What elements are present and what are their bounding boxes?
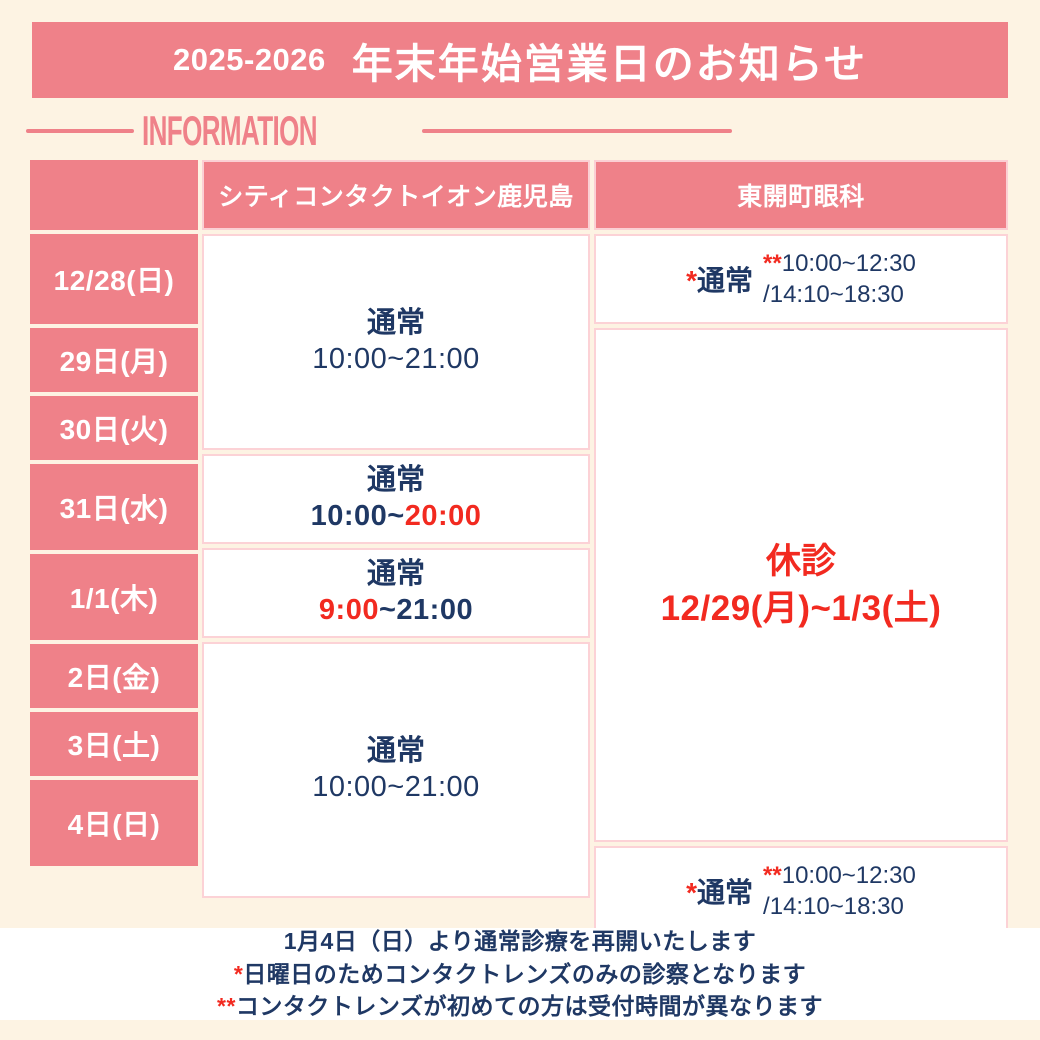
header-cell-clinic: 東開町眼科 (594, 160, 1008, 230)
hours-line-2: /14:10~18:30 (763, 281, 904, 308)
asterisk-marker: * (686, 877, 697, 908)
clinic-open-cell: *通常 **10:00~12:30 /14:10~18:30 (594, 846, 1008, 936)
hours-text: 10:00~21:00 (312, 769, 480, 807)
closed-label: 休診 (766, 538, 836, 585)
status-label: *通常 (686, 871, 753, 911)
date-cell: 31日(水) (30, 464, 198, 550)
footer-note-1-text: 日曜日のためコンタクトレンズのみの診察となります (243, 961, 806, 987)
status-label: *通常 (686, 259, 753, 299)
title-band: 2025-2026 年末年始営業日のお知らせ (32, 22, 1008, 98)
footer-line-note-2: **コンタクトレンズが初めての方は受付時間が異なります (217, 991, 823, 1021)
clinic-closed-cell: 休診 12/29(月)~1/3(土) (594, 328, 1008, 842)
hours-text: 9:00~21:00 (319, 592, 473, 630)
footer-notes: 1月4日（日）より通常診療を再開いたします *日曜日のためコンタクトレンズのみの… (0, 928, 1040, 1020)
status-label: 通常 (367, 556, 425, 592)
double-asterisk-marker: ** (763, 250, 782, 277)
divider-line-right (422, 129, 732, 133)
hours-line-2: /14:10~18:30 (763, 893, 904, 920)
hours-line-1: 10:00~12:30 (782, 250, 916, 277)
contact-hours-cell: 通常 9:00~21:00 (202, 548, 590, 638)
footer-note-2-text: コンタクトレンズが初めての方は受付時間が異なります (236, 993, 823, 1019)
clinic-open-cell: *通常 **10:00~12:30 /14:10~18:30 (594, 234, 1008, 324)
clinic-hours-text: **10:00~12:30 /14:10~18:30 (763, 860, 916, 922)
information-divider: INFORMATION (26, 108, 732, 154)
hours-text: 10:00~20:00 (311, 498, 482, 536)
date-cell: 1/1(木) (30, 554, 198, 640)
asterisk-marker: * (686, 265, 697, 296)
hours-part-highlight: 9:00 (319, 594, 379, 626)
header-cell-blank (30, 160, 198, 230)
asterisk-marker: * (234, 961, 243, 987)
date-cell: 12/28(日) (30, 234, 198, 324)
hours-part: 10:00~21:00 (312, 771, 480, 803)
date-cell: 29日(月) (30, 328, 198, 392)
double-asterisk-marker: ** (763, 862, 782, 889)
clinic-column: 東開町眼科 *通常 **10:00~12:30 /14:10~18:30 休診 … (594, 160, 1008, 936)
date-cell: 30日(火) (30, 396, 198, 460)
hours-part-highlight: 20:00 (405, 500, 482, 532)
poster-root: 2025-2026 年末年始営業日のお知らせ INFORMATION 12/28… (0, 0, 1040, 1040)
hours-text: 10:00~21:00 (312, 341, 480, 379)
hours-part: 10:00~21:00 (312, 343, 480, 375)
status-label: 通常 (367, 462, 425, 498)
contact-hours-cell: 通常 10:00~20:00 (202, 454, 590, 544)
date-cell: 4日(日) (30, 780, 198, 866)
schedule-table: 12/28(日) 29日(月) 30日(火) 31日(水) 1/1(木) 2日(… (30, 160, 1008, 936)
contact-hours-cell: 通常 10:00~21:00 (202, 642, 590, 898)
status-label: 通常 (367, 733, 425, 769)
double-asterisk-marker: ** (217, 993, 236, 1019)
status-label: 通常 (367, 305, 425, 341)
header-cell-contact: シティコンタクトイオン鹿児島 (202, 160, 590, 230)
hours-part: 10:00~ (311, 500, 405, 532)
clinic-hours-text: **10:00~12:30 /14:10~18:30 (763, 248, 916, 310)
divider-line-left (26, 129, 134, 133)
page-title: 年末年始営業日のお知らせ (352, 30, 867, 90)
contact-hours-cell: 通常 10:00~21:00 (202, 234, 590, 450)
footer-line-note-1: *日曜日のためコンタクトレンズのみの診察となります (234, 959, 806, 989)
footer-line-reopen: 1月4日（日）より通常診療を再開いたします (284, 926, 757, 956)
section-label: INFORMATION (142, 110, 421, 152)
date-column: 12/28(日) 29日(月) 30日(火) 31日(水) 1/1(木) 2日(… (30, 160, 198, 936)
contact-column: シティコンタクトイオン鹿児島 通常 10:00~21:00 通常 10:00~2… (202, 160, 590, 936)
date-cell: 3日(土) (30, 712, 198, 776)
status-text: 通常 (697, 265, 753, 296)
title-year-range: 2025-2026 (173, 42, 326, 78)
closed-date-range: 12/29(月)~1/3(土) (661, 585, 942, 632)
hours-line-1: 10:00~12:30 (782, 862, 916, 889)
status-text: 通常 (697, 877, 753, 908)
hours-part: ~21:00 (379, 594, 473, 626)
date-cell: 2日(金) (30, 644, 198, 708)
